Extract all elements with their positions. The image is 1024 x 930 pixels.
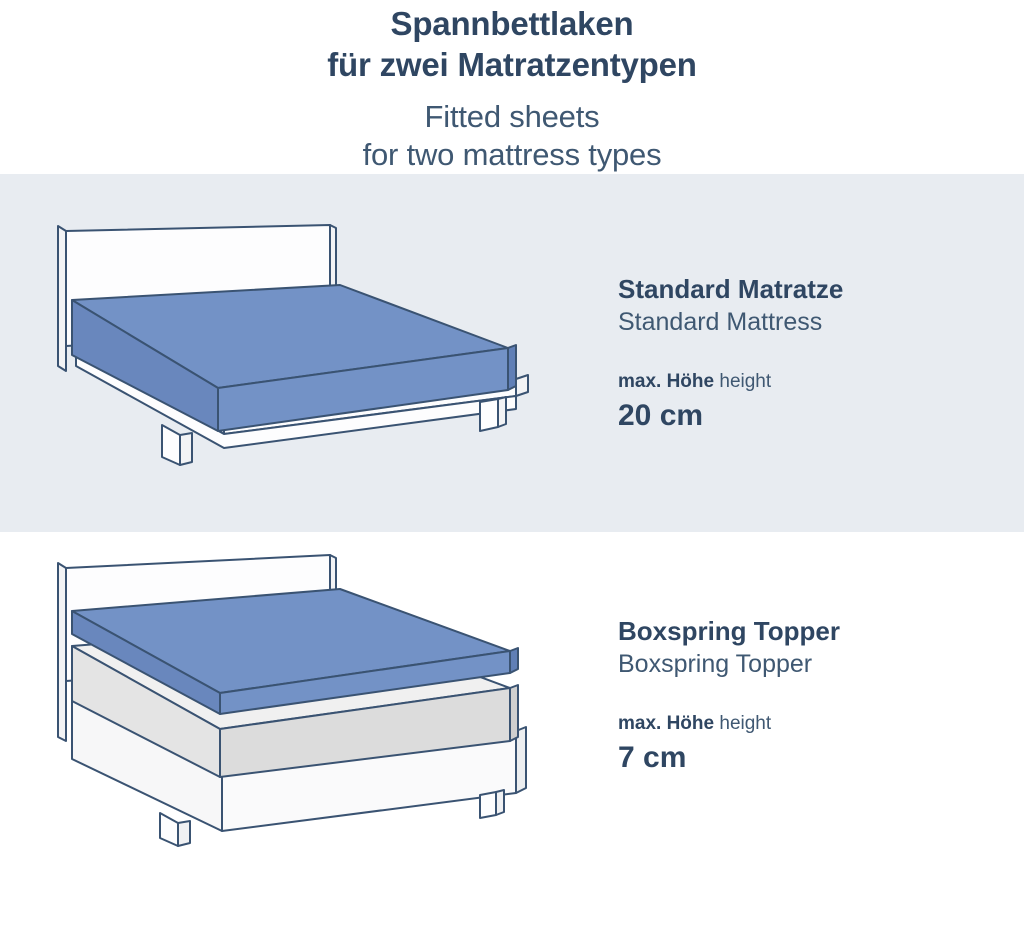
topper-right-face (510, 648, 518, 673)
boxspring-topper-info: Boxspring Topper Boxspring Topper max. H… (600, 615, 1024, 776)
standard-height-value: 20 cm (618, 397, 1024, 435)
section-standard-mattress: Standard Matratze Standard Mattress max.… (0, 174, 1024, 532)
page-header: Spannbettlaken für zwei Matratzentypen F… (0, 0, 1024, 174)
boxspring-bed-illustration (0, 532, 600, 859)
bed-base-right-face (516, 375, 528, 396)
grey-mattress-right-face (510, 685, 518, 741)
header-title-en-line1: Fitted sheets (0, 98, 1024, 136)
bed-leg-right-side (498, 397, 506, 427)
boxspring-bed-svg (40, 541, 560, 851)
bed-leg-front (162, 425, 180, 465)
mattress-right-face (508, 345, 516, 390)
boxspring-height-label-de: max. Höhe (618, 713, 714, 734)
bed-leg-right (480, 399, 498, 431)
header-title-de-line1: Spannbettlaken (0, 4, 1024, 45)
box-leg-right-side (496, 790, 504, 815)
boxspring-title-en: Boxspring Topper (618, 648, 1024, 680)
section-boxspring-topper: Boxspring Topper Boxspring Topper max. H… (0, 532, 1024, 859)
boxspring-title-de: Boxspring Topper (618, 615, 1024, 648)
headboard-left-edge (58, 226, 66, 371)
standard-bed-svg (40, 203, 560, 503)
boxspring-height-value: 7 cm (618, 739, 1024, 777)
standard-height-row: max. Höhe height 20 cm (618, 370, 1024, 434)
box-leg-front-side (178, 821, 190, 846)
box-leg-right (480, 792, 496, 818)
box-leg-front (160, 813, 178, 846)
standard-height-label-en: height (719, 371, 771, 392)
standard-title-de: Standard Matratze (618, 273, 1024, 306)
bed-leg-front-side (180, 433, 192, 465)
standard-bed-illustration (0, 174, 600, 532)
boxspring-height-row: max. Höhe height 7 cm (618, 712, 1024, 776)
standard-mattress-info: Standard Matratze Standard Mattress max.… (600, 273, 1024, 434)
standard-title-en: Standard Mattress (618, 306, 1024, 338)
standard-height-label-de: max. Höhe (618, 371, 714, 392)
boxspring-height-label-en: height (719, 713, 771, 734)
header-title-en-line2: for two mattress types (0, 136, 1024, 174)
header-title-de-line2: für zwei Matratzentypen (0, 45, 1024, 86)
headboard-left-edge (58, 563, 66, 741)
